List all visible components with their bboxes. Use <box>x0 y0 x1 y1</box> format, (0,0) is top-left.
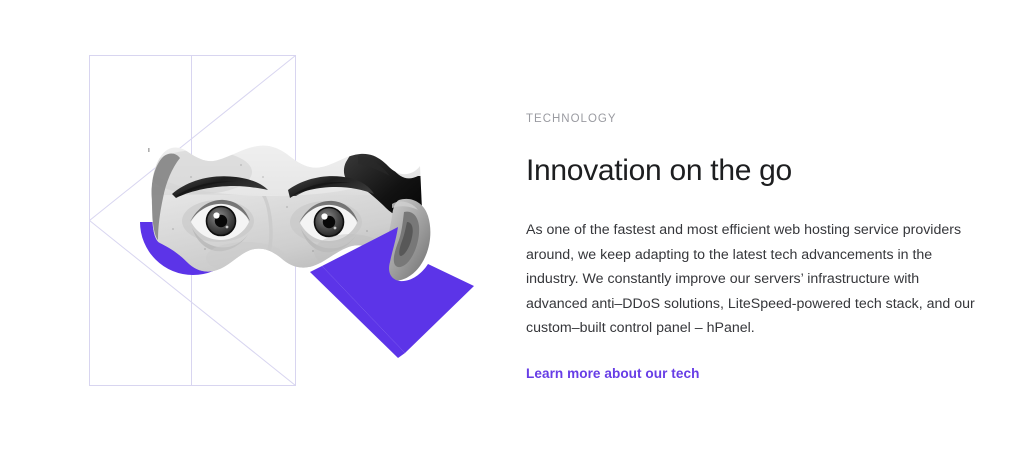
page-title: Innovation on the go <box>526 152 978 190</box>
body-paragraph: As one of the fastest and most efficient… <box>526 218 978 341</box>
technology-feature-section: TECHNOLOGY Innovation on the go As one o… <box>0 0 1024 454</box>
collage-artwork <box>0 0 512 454</box>
collage-svg <box>0 0 512 454</box>
feature-text-block: TECHNOLOGY Innovation on the go As one o… <box>526 112 978 383</box>
learn-more-link[interactable]: Learn more about our tech <box>526 365 699 383</box>
photo-speck <box>148 148 150 152</box>
eyebrow-label: TECHNOLOGY <box>526 112 978 126</box>
